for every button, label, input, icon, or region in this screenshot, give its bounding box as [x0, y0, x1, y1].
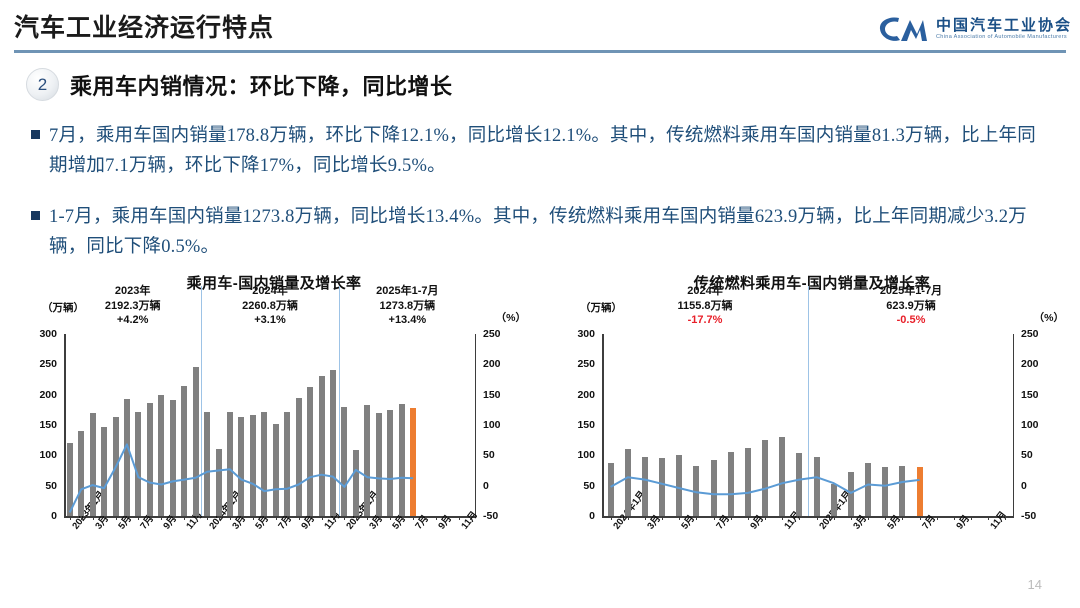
annotation-line: 623.9万辆	[841, 299, 981, 314]
x-axis-tick	[287, 516, 288, 520]
x-axis	[602, 516, 1014, 518]
annotation-line: -17.7%	[635, 313, 775, 328]
x-axis-tick	[241, 516, 242, 520]
chart-unit-right: （%）	[1034, 310, 1064, 325]
chart-annotation: 2023年2192.3万辆+4.2%	[63, 284, 203, 328]
y2-axis-tick-label: 250	[483, 328, 501, 340]
annotation-line: 2260.8万辆	[200, 299, 340, 314]
x-axis-tick	[662, 516, 663, 520]
chart-unit-left: （万辆）	[580, 300, 622, 315]
y2-axis-tick-label: 100	[1021, 419, 1039, 431]
y-axis-tick-label: 100	[577, 449, 595, 461]
caam-logo-mark	[877, 14, 929, 44]
y-axis-tick-label: 50	[45, 480, 57, 492]
annotation-line: 1273.8万辆	[337, 299, 477, 314]
annotation-line: +13.4%	[337, 313, 477, 328]
y2-axis-tick-label: -50	[483, 510, 498, 522]
page-header: 汽车工业经济运行特点 中国汽车工业协会 China Association of…	[0, 0, 1080, 58]
x-axis-tick	[731, 516, 732, 520]
y-axis-tick-label: 300	[39, 328, 57, 340]
y-axis-tick-label: 200	[577, 389, 595, 401]
y2-axis-tick-label: 250	[1021, 328, 1039, 340]
chart-annotation: 2025年1-7月1273.8万辆+13.4%	[337, 284, 477, 328]
chart-annotation: 2024年2260.8万辆+3.1%	[200, 284, 340, 328]
x-axis-tick	[902, 516, 903, 520]
y2-axis-tick-label: 0	[483, 480, 489, 492]
x-axis-tick	[868, 516, 869, 520]
annotation-line: 2023年	[63, 284, 203, 299]
x-axis-tick	[696, 516, 697, 520]
y-axis-tick-label: 150	[577, 419, 595, 431]
annotation-line: 2192.3万辆	[63, 299, 203, 314]
y2-axis-tick-label: 200	[483, 358, 501, 370]
y-axis-tick-label: 250	[39, 358, 57, 370]
bullet-text: 1-7月，乘用车国内销量1273.8万辆，同比增长13.4%。其中，传统燃料乘用…	[49, 203, 1053, 263]
y2-axis-tick-label: 200	[1021, 358, 1039, 370]
x-axis-tick	[310, 516, 311, 520]
bullet-square-icon	[31, 211, 40, 220]
x-axis-tick	[470, 516, 471, 520]
x-axis-tick	[127, 516, 128, 520]
y2-axis-tick-label: 50	[483, 449, 495, 461]
chart-annotation: 2025年1-7月623.9万辆-0.5%	[841, 284, 981, 328]
logo-english-name: China Association of Automobile Manufact…	[936, 34, 1072, 41]
annotation-line: -0.5%	[841, 313, 981, 328]
y2-axis-tick-label: -50	[1021, 510, 1036, 522]
y2-axis-tick-label: 50	[1021, 449, 1033, 461]
y-axis-tick-label: 200	[39, 389, 57, 401]
y2-axis-tick-label: 150	[1021, 389, 1039, 401]
chart-plot-area: 050100150200250300-500501001502002502024…	[602, 334, 1014, 516]
x-axis-tick	[81, 516, 82, 520]
x-axis-tick	[425, 516, 426, 520]
x-axis-tick	[971, 516, 972, 520]
x-axis-tick	[196, 516, 197, 520]
x-axis-tick	[1005, 516, 1006, 520]
y-axis-tick-label: 300	[577, 328, 595, 340]
section-heading: 2 乘用车内销情况：环比下降，同比增长	[26, 68, 453, 101]
annotation-line: 2025年1-7月	[841, 284, 981, 299]
x-axis-tick	[379, 516, 380, 520]
x-axis-tick	[104, 516, 105, 520]
annotation-line: 2025年1-7月	[337, 284, 477, 299]
bullet-square-icon	[31, 130, 40, 139]
bullet-text: 7月，乘用车国内销量178.8万辆，环比下降12.1%，同比增长12.1%。其中…	[49, 122, 1053, 182]
chart-conventional-fuel-passenger-vehicle: 传统燃料乘用车-国内销量及增长率 （万辆） （%） 05010015020025…	[552, 272, 1072, 587]
x-axis-tick	[937, 516, 938, 520]
chart-title: 传统燃料乘用车-国内销量及增长率	[552, 272, 1072, 293]
y-axis-tick-label: 250	[577, 358, 595, 370]
y-axis-tick-label: 0	[589, 510, 595, 522]
annotation-line: 2024年	[635, 284, 775, 299]
section-title: 乘用车内销情况：环比下降，同比增长	[70, 69, 453, 101]
annotation-line: 1155.8万辆	[635, 299, 775, 314]
page-number: 14	[1028, 577, 1042, 592]
x-axis-tick	[799, 516, 800, 520]
section-number-badge: 2	[26, 68, 59, 101]
y2-axis-tick-label: 0	[1021, 480, 1027, 492]
y2-axis-tick-label: 100	[483, 419, 501, 431]
x-axis-tick	[765, 516, 766, 520]
y2-axis-tick-label: 150	[483, 389, 501, 401]
x-axis-tick	[264, 516, 265, 520]
x-axis-tick	[834, 516, 835, 520]
bullet-item: 1-7月，乘用车国内销量1273.8万辆，同比增长13.4%。其中，传统燃料乘用…	[31, 203, 1053, 263]
growth-rate-line	[64, 334, 476, 516]
caam-logo-text: 中国汽车工业协会 China Association of Automobile…	[936, 17, 1072, 41]
x-axis-tick	[150, 516, 151, 520]
x-axis-tick	[219, 516, 220, 520]
y-axis-tick-label: 100	[39, 449, 57, 461]
y-axis-tick-label: 150	[39, 419, 57, 431]
header-divider-rule	[14, 50, 1066, 53]
annotation-line: +3.1%	[200, 313, 340, 328]
x-axis-tick	[402, 516, 403, 520]
y-axis-tick-label: 0	[51, 510, 57, 522]
chart-passenger-vehicle: 乘用车-国内销量及增长率 （万辆） （%） 050100150200250300…	[14, 272, 534, 587]
growth-rate-line	[602, 334, 1014, 516]
chart-annotation: 2024年1155.8万辆-17.7%	[635, 284, 775, 328]
bullet-item: 7月，乘用车国内销量178.8万辆，环比下降12.1%，同比增长12.1%。其中…	[31, 122, 1053, 182]
chart-plot-area: 050100150200250300-500501001502002502023…	[64, 334, 476, 516]
page-title: 汽车工业经济运行特点	[14, 8, 274, 44]
annotation-line: +4.2%	[63, 313, 203, 328]
x-axis-tick	[356, 516, 357, 520]
x-axis-tick	[173, 516, 174, 520]
x-axis-tick	[628, 516, 629, 520]
y-axis-tick-label: 50	[583, 480, 595, 492]
x-axis-tick	[333, 516, 334, 520]
annotation-line: 2024年	[200, 284, 340, 299]
chart-unit-right: （%）	[496, 310, 526, 325]
caam-logo: 中国汽车工业协会 China Association of Automobile…	[877, 8, 1072, 50]
x-axis-tick	[447, 516, 448, 520]
logo-chinese-name: 中国汽车工业协会	[936, 17, 1072, 34]
